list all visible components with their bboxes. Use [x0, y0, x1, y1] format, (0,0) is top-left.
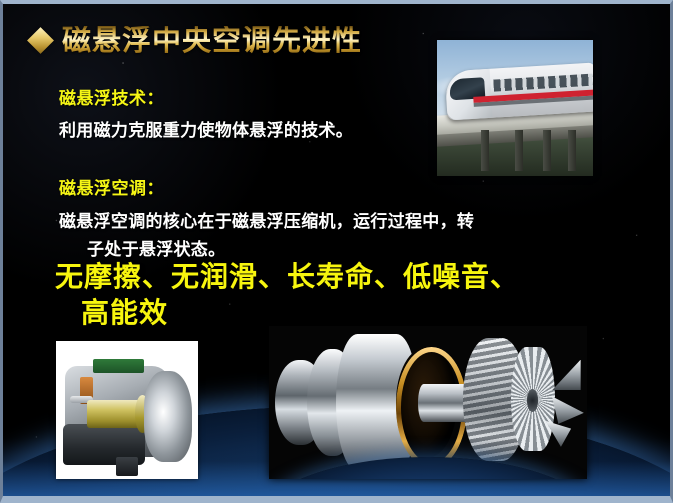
- magnetic-bearing-rotor-render: [269, 326, 587, 479]
- section-maglev-technology: 磁悬浮技术： 利用磁力克服重力使物体悬浮的技术。: [59, 84, 353, 141]
- render-earth-horizon: [269, 457, 587, 479]
- compressor-rotor: [87, 400, 144, 428]
- guideway-pier: [481, 130, 489, 171]
- train-side-windows: [493, 74, 592, 93]
- impeller-blade: [552, 396, 584, 424]
- section-body-line: 子处于悬浮状态。: [87, 235, 474, 260]
- rotor-impeller-disc: [511, 347, 556, 451]
- compressor-cutaway-photo: [56, 341, 198, 479]
- presentation-slide: 磁悬浮中央空调先进性 磁悬浮技术： 利用磁力克服重力使物体悬浮的技术。 磁悬浮空…: [0, 0, 673, 503]
- guideway-pier: [543, 130, 551, 171]
- compressor-circuit-board: [93, 359, 144, 373]
- compressor-foot: [116, 457, 139, 476]
- maglev-train-photo: [437, 40, 593, 176]
- train-body: [445, 63, 593, 121]
- highlight-line-1: 无摩擦、无润滑、长寿命、低噪音、: [55, 259, 575, 295]
- guideway-pier: [515, 130, 523, 171]
- section-body-line: 利用磁力克服重力使物体悬浮的技术。: [59, 116, 353, 141]
- compressor-impeller-housing: [144, 371, 192, 462]
- slide-title-row: 磁悬浮中央空调先进性: [31, 26, 362, 55]
- section-label: 磁悬浮空调：: [59, 174, 474, 199]
- section-maglev-air-conditioner: 磁悬浮空调： 磁悬浮空调的核心在于磁悬浮压缩机，运行过程中，转 子处于悬浮状态。: [59, 174, 474, 260]
- section-body-line: 磁悬浮空调的核心在于磁悬浮压缩机，运行过程中，转: [59, 207, 474, 232]
- highlight-benefits: 无摩擦、无润滑、长寿命、低噪音、 高能效: [55, 259, 575, 331]
- diamond-bullet-icon: [27, 27, 54, 54]
- guideway-pier: [568, 130, 576, 171]
- impeller-blade: [552, 360, 581, 391]
- page-title: 磁悬浮中央空调先进性: [62, 26, 362, 55]
- section-label: 磁悬浮技术：: [59, 84, 353, 109]
